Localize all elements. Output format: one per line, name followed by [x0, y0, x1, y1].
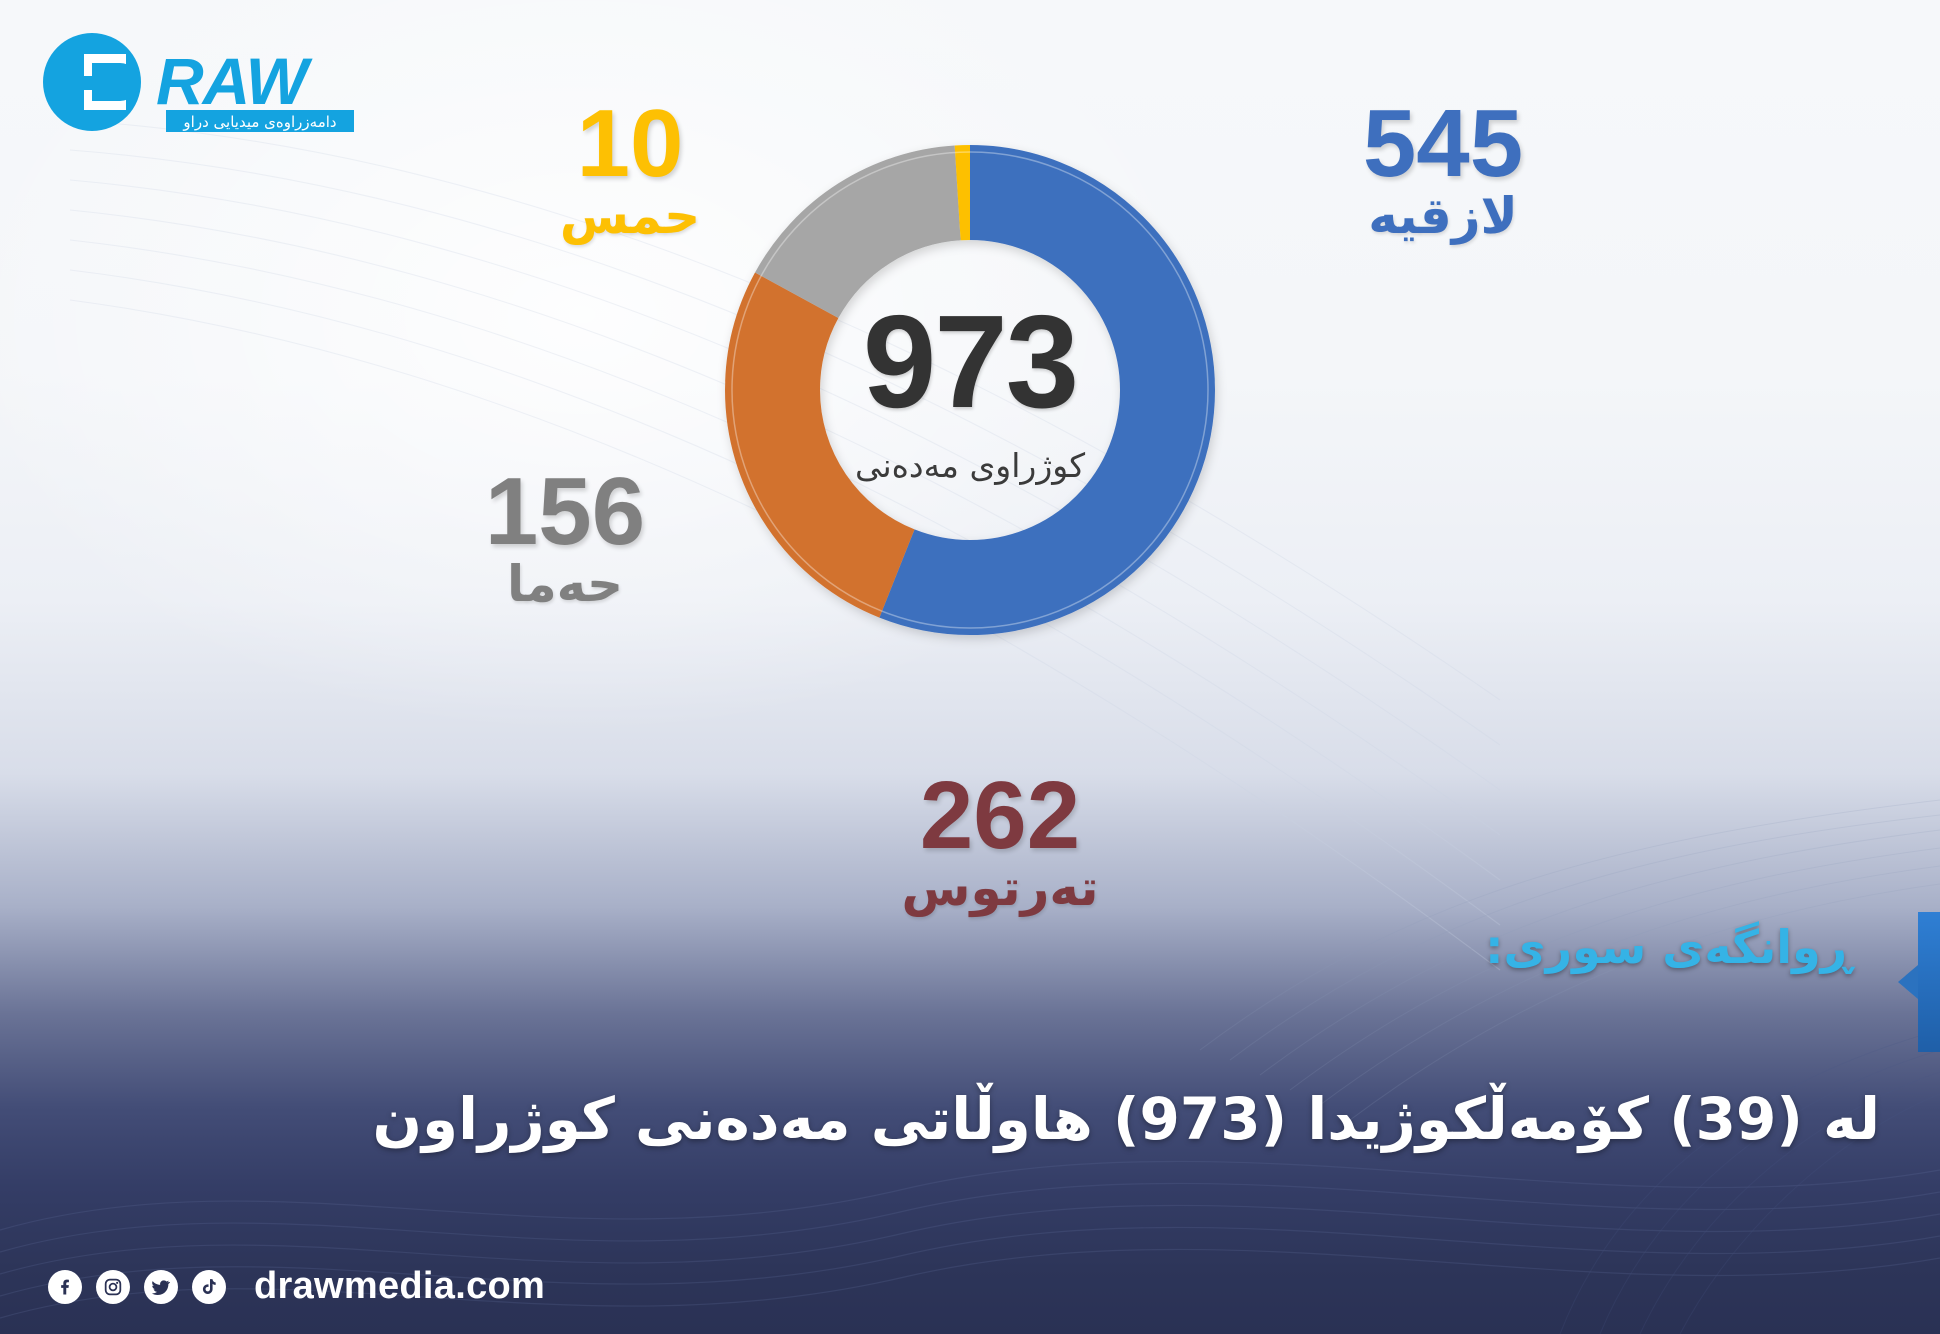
- website-url[interactable]: drawmedia.com: [254, 1265, 545, 1308]
- callout-hama: 156 حەما: [450, 466, 680, 613]
- infographic-canvas: RAW دامەزراوەی میدیایی دراو: [0, 0, 1940, 1334]
- accent-bar: [1918, 912, 1940, 1052]
- callout-tartus-value: 262: [870, 770, 1130, 861]
- brand-logo: RAW دامەزراوەی میدیایی دراو: [40, 30, 380, 140]
- callout-latakia: 545 لازقیه: [1318, 98, 1568, 245]
- callout-latakia-label: لازقیه: [1318, 187, 1568, 245]
- source-label: ڕوانگەی سوری:: [1485, 920, 1852, 974]
- callout-hama-value: 156: [450, 466, 680, 557]
- callout-homs-label: حمس: [520, 187, 740, 245]
- callout-homs-value: 10: [520, 98, 740, 189]
- callout-latakia-value: 545: [1318, 98, 1568, 189]
- logo-subtitle: دامەزراوەی میدیایی دراو: [182, 113, 336, 131]
- donut-total-label: کوژراوی مەدەنی: [855, 446, 1085, 485]
- callout-tartus: 262 تەرتوس: [870, 770, 1130, 917]
- facebook-icon[interactable]: [48, 1270, 82, 1304]
- twitter-icon[interactable]: [144, 1270, 178, 1304]
- footer: drawmedia.com: [48, 1265, 545, 1308]
- instagram-icon[interactable]: [96, 1270, 130, 1304]
- headline: لە (39) کۆمەڵکوژیدا (973) هاوڵاتی مەدەنی…: [60, 1080, 1880, 1158]
- callout-homs: 10 حمس: [520, 98, 740, 245]
- donut-chart: 973 کوژراوی مەدەنی: [660, 80, 1280, 700]
- tiktok-icon[interactable]: [192, 1270, 226, 1304]
- donut-total-value: 973: [863, 296, 1077, 428]
- svg-text:RAW: RAW: [156, 44, 313, 118]
- donut-center: 973 کوژراوی مەدەنی: [660, 80, 1280, 700]
- callout-tartus-label: تەرتوس: [870, 859, 1130, 917]
